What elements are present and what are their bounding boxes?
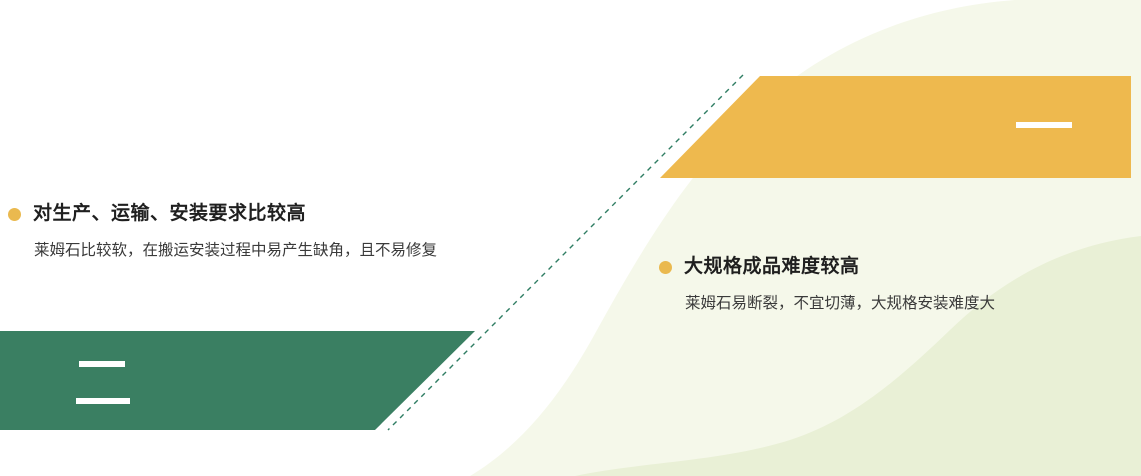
block-body: 莱姆石易断裂，不宜切薄，大规格安装难度大 — [685, 293, 995, 315]
text-block-right: 大规格成品难度较高 莱姆石易断裂，不宜切薄，大规格安装难度大 — [659, 256, 995, 315]
block-body: 莱姆石比较软，在搬运安装过程中易产生缺角，且不易修复 — [34, 240, 437, 262]
block-heading: 大规格成品难度较高 — [684, 256, 860, 279]
slide-canvas: 对生产、运输、安装要求比较高 莱姆石比较软，在搬运安装过程中易产生缺角，且不易修… — [0, 0, 1141, 476]
green-bar-bottom — [76, 398, 130, 404]
heading-row: 大规格成品难度较高 — [659, 256, 995, 279]
green-bar-top — [79, 361, 125, 367]
bullet-dot-icon — [659, 261, 672, 274]
yellow-bar — [1016, 122, 1072, 128]
dashed-diagonal-divider — [388, 75, 743, 430]
block-heading: 对生产、运输、安装要求比较高 — [33, 203, 306, 226]
text-block-left: 对生产、运输、安装要求比较高 莱姆石比较软，在搬运安装过程中易产生缺角，且不易修… — [8, 203, 437, 262]
heading-row: 对生产、运输、安装要求比较高 — [8, 203, 437, 226]
bullet-dot-icon — [8, 208, 21, 221]
